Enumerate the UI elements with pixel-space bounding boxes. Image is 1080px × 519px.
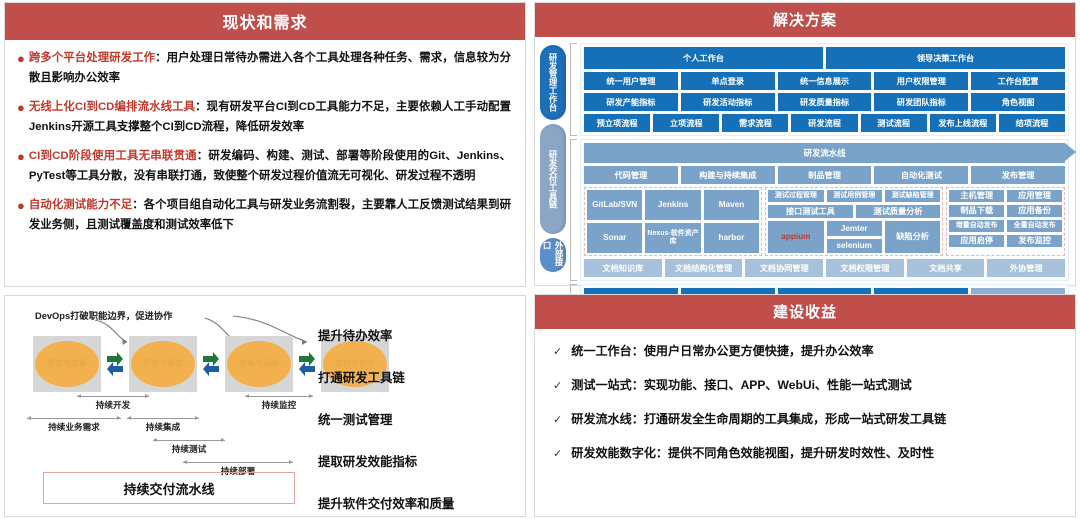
tile-doc-permission[interactable]: 文档权限管理 xyxy=(826,259,904,277)
gain-list: ✓ 统一工作台：使用户日常办公更方便快捷，提升办公效率 ✓ 测试一站式：实现功能… xyxy=(535,329,1075,484)
group-workbench: 个人工作台 领导决策工作台 统一用户管理 单点登录 统一信息展示 用户权限管理 … xyxy=(570,43,1069,136)
gain-text: 统一工作台：使用户日常办公更方便快捷，提升办公效率 xyxy=(571,342,873,359)
left-column: 现状和需求 ● 跨多个平台处理研发工作：用户处理日常待办需进入各个工具处理各种任… xyxy=(4,2,526,517)
bullet-keyword: 跨多个平台处理研发工作 xyxy=(29,52,155,64)
stage-label: 发布与运维 xyxy=(227,341,291,387)
measure-arrow-icon xyxy=(183,462,293,463)
workbench-row-1: 统一用户管理 单点登录 统一信息展示 用户权限管理 工作台配置 xyxy=(584,72,1065,90)
tile-dev-flow[interactable]: 研发流程 xyxy=(791,114,857,132)
tile-user-mgmt[interactable]: 统一用户管理 xyxy=(584,72,678,90)
tool-release-monitor[interactable]: 发布监控 xyxy=(1007,235,1062,247)
pipeline-callout: 持续交付流水线 xyxy=(43,472,295,504)
rail-label-external: 外部接口 xyxy=(540,238,566,272)
tool-test-defect-mgmt[interactable]: 测试缺陷管理 xyxy=(885,190,940,202)
measure-span: 持续测试 xyxy=(153,440,225,455)
workbench-row-3: 预立项流程 立项流程 需求流程 研发流程 测试流程 发布上线流程 结项流程 xyxy=(584,114,1065,132)
sync-arrows-icon xyxy=(101,350,129,378)
list-item: ✓ 测试一站式：实现功能、接口、APP、WebUi、性能一站式测试 xyxy=(553,376,1059,393)
tile-doc-knowledge[interactable]: 文档知识库 xyxy=(584,259,662,277)
tool-api-test[interactable]: 接口测试工具 xyxy=(768,205,853,218)
solution-body: 研发管理工作台 研发交付工具链 外部接口 个人工作台 领导决策工作台 xyxy=(535,37,1075,278)
workbench-top-row: 个人工作台 领导决策工作台 xyxy=(584,47,1065,69)
rail-label-workbench: 研发管理工作台 xyxy=(540,45,566,120)
tool-group-scm: GitLab/SVN Jenkins Maven Sonar Nexus-软件资… xyxy=(584,187,762,256)
measure-span: 持续集成 xyxy=(127,418,199,433)
tile-sso[interactable]: 单点登录 xyxy=(681,72,775,90)
solution-panel: 解决方案 研发管理工作台 研发交付工具链 外部接口 个人工作台 领导决策工作 xyxy=(534,2,1076,286)
tile-auto-test[interactable]: 自动化测试 xyxy=(874,166,968,184)
status-bullet-list: ● 跨多个平台处理研发工作：用户处理日常待办需进入各个工具处理各种任务、需求，信… xyxy=(5,40,525,249)
devops-diagram-panel: DevOps打破职能边界，促进协作 需求与度量 xyxy=(4,295,526,517)
list-item: ● 自动化测试能力不足：各个项目组自动化工具与研发业务流割裂，主要靠人工反馈测试… xyxy=(17,196,511,236)
tool-artifact-download[interactable]: 制品下载 xyxy=(949,205,1004,217)
measure-arrow-icon xyxy=(127,418,199,419)
tile-outsource-mgmt[interactable]: 外协管理 xyxy=(987,259,1065,277)
bullet-dot-icon: ● xyxy=(17,98,25,138)
measure-span: 持续开发 xyxy=(77,396,149,411)
tool-jmeter[interactable]: Jemter xyxy=(827,221,882,236)
gain-text: 研发效能数字化：提供不同角色效能视图，提升研发时效性、及时性 xyxy=(571,444,934,461)
stage-box: 开发与测试 xyxy=(129,336,197,392)
tool-harbor[interactable]: harbor xyxy=(704,223,759,253)
tile-personal-workbench[interactable]: 个人工作台 xyxy=(584,47,823,69)
bullet-keyword: 无线上化CI到CD编排流水线工具 xyxy=(29,101,195,113)
list-item: ✓ 统一工作台：使用户日常办公更方便快捷，提升办公效率 xyxy=(553,342,1059,359)
stage-box: 发布与运维 xyxy=(225,336,293,392)
benefit-item: 提取研发效能指标 xyxy=(318,452,513,470)
list-item: ● 跨多个平台处理研发工作：用户处理日常待办需进入各个工具处理各种任务、需求，信… xyxy=(17,49,511,89)
solution-panel-title: 解决方案 xyxy=(535,3,1075,37)
group-toolchain: 研发流水线 代码管理 构建与持续集成 制品管理 自动化测试 发布管理 xyxy=(570,139,1069,281)
stage-label: 需求与度量 xyxy=(35,341,99,387)
check-icon: ✓ xyxy=(553,447,562,460)
document-row: 文档知识库 文档结构化管理 文档协同管理 文档权限管理 文档共享 外协管理 xyxy=(584,259,1065,277)
measure-label: 持续监控 xyxy=(262,400,296,410)
benefit-item: 打通研发工具链 xyxy=(318,368,513,386)
check-icon: ✓ xyxy=(553,413,562,426)
tool-gitlab-svn[interactable]: GitLab/SVN xyxy=(587,190,642,220)
sync-arrows-icon xyxy=(197,350,225,378)
sync-arrows-icon xyxy=(293,350,321,378)
pipeline-stage-row: 代码管理 构建与持续集成 制品管理 自动化测试 发布管理 xyxy=(584,166,1065,184)
bullet-text: CI到CD阶段使用工具无串联贯通：研发编码、构建、测试、部署等阶段使用的Git、… xyxy=(29,147,511,187)
list-item: ● CI到CD阶段使用工具无串联贯通：研发编码、构建、测试、部署等阶段使用的Gi… xyxy=(17,147,511,187)
tile-team-metric[interactable]: 研发团队指标 xyxy=(874,93,968,111)
tile-close-flow[interactable]: 结项流程 xyxy=(999,114,1065,132)
group-bracket xyxy=(570,139,577,281)
solution-rail: 研发管理工作台 研发交付工具链 外部接口 xyxy=(540,43,566,272)
measure-label: 持续开发 xyxy=(96,400,130,410)
bullet-text: 自动化测试能力不足：各个项目组自动化工具与研发业务流割裂，主要靠人工反馈测试结果… xyxy=(29,196,511,236)
tool-nexus[interactable]: Nexus-软件资产库 xyxy=(645,223,700,253)
devops-benefit-list: 提升待办效率 打通研发工具链 统一测试管理 提取研发效能指标 提升软件交付效率和… xyxy=(318,326,513,519)
tool-app-start-stop[interactable]: 应用启停 xyxy=(949,235,1004,247)
list-item: ✓ 研发效能数字化：提供不同角色效能视图，提升研发时效性、及时性 xyxy=(553,444,1059,461)
tool-sonar[interactable]: Sonar xyxy=(587,223,642,253)
tile-pre-project-flow[interactable]: 预立项流程 xyxy=(584,114,650,132)
bullet-text: 无线上化CI到CD编排流水线工具：现有研发平台CI到CD工具能力不足，主要依赖人… xyxy=(29,98,511,138)
tile-role-view[interactable]: 角色视图 xyxy=(971,93,1065,111)
tile-doc-collab[interactable]: 文档协同管理 xyxy=(745,259,823,277)
bullet-dot-icon: ● xyxy=(17,147,25,187)
tile-artifact-mgmt[interactable]: 制品管理 xyxy=(778,166,872,184)
tool-jenkins[interactable]: Jenkins xyxy=(645,190,700,220)
right-column: 解决方案 研发管理工作台 研发交付工具链 外部接口 个人工作台 领导决策工作 xyxy=(534,2,1076,517)
tile-capacity-metric[interactable]: 研发产能指标 xyxy=(584,93,678,111)
tool-group-test: 测试过程管理 测试用例管理 测试缺陷管理 接口测试工具 测试质量分析 xyxy=(765,187,943,256)
tile-activity-metric[interactable]: 研发活动指标 xyxy=(681,93,775,111)
measure-arrow-icon xyxy=(153,440,225,441)
tile-release-mgmt[interactable]: 发布管理 xyxy=(971,166,1065,184)
benefit-item: 提升待办效率 xyxy=(318,326,513,344)
gain-text: 测试一站式：实现功能、接口、APP、WebUi、性能一站式测试 xyxy=(571,376,911,393)
tile-release-flow[interactable]: 发布上线流程 xyxy=(930,114,996,132)
list-item: ● 无线上化CI到CD编排流水线工具：现有研发平台CI到CD工具能力不足，主要依… xyxy=(17,98,511,138)
tool-maven[interactable]: Maven xyxy=(704,190,759,220)
tile-doc-share[interactable]: 文档共享 xyxy=(907,259,985,277)
measure-arrow-icon xyxy=(245,396,313,397)
tool-full-release[interactable]: 全量自动发布 xyxy=(1007,220,1062,232)
tool-selenium[interactable]: selenium xyxy=(827,239,882,254)
tile-doc-structure[interactable]: 文档结构化管理 xyxy=(665,259,743,277)
tool-incremental-release[interactable]: 增量自动发布 xyxy=(949,220,1004,232)
tool-matrix: GitLab/SVN Jenkins Maven Sonar Nexus-软件资… xyxy=(584,187,1065,256)
tile-requirement-flow[interactable]: 需求流程 xyxy=(722,114,788,132)
tool-defect-analysis[interactable]: 缺陷分析 xyxy=(885,221,940,253)
tool-app-backup[interactable]: 应用备份 xyxy=(1007,205,1062,217)
tile-leader-workbench[interactable]: 领导决策工作台 xyxy=(826,47,1065,69)
stage-box: 需求与度量 xyxy=(33,336,101,392)
status-panel: 现状和需求 ● 跨多个平台处理研发工作：用户处理日常待办需进入各个工具处理各种任… xyxy=(4,2,526,287)
bullet-dot-icon: ● xyxy=(17,196,25,236)
tile-permission-mgmt[interactable]: 用户权限管理 xyxy=(874,72,968,90)
tool-test-case-mgmt[interactable]: 测试用例管理 xyxy=(827,190,882,202)
tool-test-process-mgmt[interactable]: 测试过程管理 xyxy=(768,190,823,202)
tile-quality-metric[interactable]: 研发质量指标 xyxy=(778,93,872,111)
tool-test-quality-analysis[interactable]: 测试质量分析 xyxy=(856,205,941,218)
group-bracket xyxy=(570,43,577,136)
tile-build-ci[interactable]: 构建与持续集成 xyxy=(681,166,775,184)
rail-label-toolchain: 研发交付工具链 xyxy=(540,124,566,234)
list-item: ✓ 研发流水线：打通研发全生命周期的工具集成，形成一站式研发工具链 xyxy=(553,410,1059,427)
measure-arrow-icon xyxy=(77,396,149,397)
tool-app-mgmt[interactable]: 应用管理 xyxy=(1007,190,1062,202)
measure-span: 持续业务需求 xyxy=(27,418,121,433)
workbench-row-2: 研发产能指标 研发活动指标 研发质量指标 研发团队指标 角色视图 xyxy=(584,93,1065,111)
check-icon: ✓ xyxy=(553,345,562,358)
bullet-dot-icon: ● xyxy=(17,49,25,89)
solution-groups: 个人工作台 领导决策工作台 统一用户管理 单点登录 统一信息展示 用户权限管理 … xyxy=(570,43,1069,272)
group-body: 研发流水线 代码管理 构建与持续集成 制品管理 自动化测试 发布管理 xyxy=(580,139,1069,281)
measure-span: 持续监控 xyxy=(245,396,313,411)
benefit-item: 统一测试管理 xyxy=(318,410,513,428)
measure-arrow-icon xyxy=(27,418,121,419)
bullet-keyword: CI到CD阶段使用工具无串联贯通 xyxy=(29,150,197,162)
group-body: 个人工作台 领导决策工作台 统一用户管理 单点登录 统一信息展示 用户权限管理 … xyxy=(580,43,1069,136)
tile-test-flow[interactable]: 测试流程 xyxy=(861,114,927,132)
measure-label: 持续业务需求 xyxy=(48,422,100,432)
check-icon: ✓ xyxy=(553,379,562,392)
tool-host-mgmt[interactable]: 主机管理 xyxy=(949,190,1004,202)
gain-panel-title: 建设收益 xyxy=(535,295,1075,329)
tile-info-display[interactable]: 统一信息展示 xyxy=(778,72,872,90)
pipeline-banner: 研发流水线 xyxy=(584,143,1065,163)
slide-root: 现状和需求 ● 跨多个平台处理研发工作：用户处理日常待办需进入各个工具处理各种任… xyxy=(0,0,1080,519)
measure-label: 持续集成 xyxy=(146,422,180,432)
tile-code-mgmt[interactable]: 代码管理 xyxy=(584,166,678,184)
gain-panel: 建设收益 ✓ 统一工作台：使用户日常办公更方便快捷，提升办公效率 ✓ 测试一站式… xyxy=(534,294,1076,517)
devops-canvas: DevOps打破职能边界，促进协作 需求与度量 xyxy=(5,296,525,516)
tool-group-deploy: 主机管理 应用管理 制品下载 应用备份 增量自动发布 xyxy=(946,187,1065,256)
tile-project-flow[interactable]: 立项流程 xyxy=(653,114,719,132)
tile-workbench-config[interactable]: 工作台配置 xyxy=(971,72,1065,90)
tool-appium[interactable]: appium xyxy=(768,221,823,253)
stage-label: 开发与测试 xyxy=(131,341,195,387)
bullet-keyword: 自动化测试能力不足 xyxy=(29,199,132,211)
benefit-item: 提升软件交付效率和质量 xyxy=(318,494,513,512)
gain-text: 研发流水线：打通研发全生命周期的工具集成，形成一站式研发工具链 xyxy=(571,410,946,427)
measure-label: 持续测试 xyxy=(172,444,206,454)
status-panel-title: 现状和需求 xyxy=(5,3,525,40)
bullet-text: 跨多个平台处理研发工作：用户处理日常待办需进入各个工具处理各种任务、需求，信息较… xyxy=(29,49,511,89)
